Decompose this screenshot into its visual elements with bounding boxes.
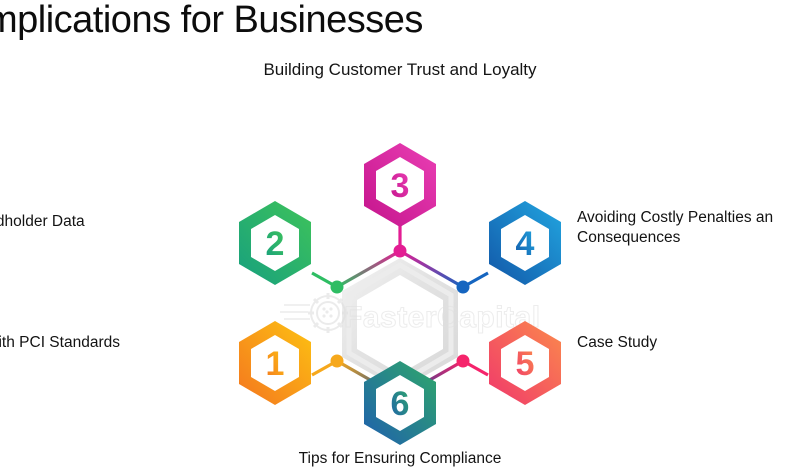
- node-label-6: Tips for Ensuring Compliance: [0, 449, 800, 469]
- hex-number-4: 4: [516, 225, 535, 263]
- hexagon-cluster-svg: FasterCapital 3 2 4 1: [220, 115, 580, 455]
- node-label-4-line1: Avoiding Costly Penalties an: [577, 208, 800, 228]
- hex-node-3[interactable]: 3: [364, 143, 436, 227]
- node-label-4: Avoiding Costly Penalties an Consequence…: [577, 208, 800, 248]
- hex-number-6: 6: [391, 385, 410, 423]
- hex-number-5: 5: [516, 345, 535, 383]
- hex-number-3: 3: [391, 167, 410, 205]
- hexagon-cluster-diagram: FasterCapital 3 2 4 1: [0, 95, 800, 468]
- hex-node-1[interactable]: 1: [239, 321, 311, 405]
- node-label-5: Case Study: [577, 333, 657, 353]
- node-label-4-line2: Consequences: [577, 228, 800, 248]
- hex-node-4[interactable]: 4: [489, 201, 561, 285]
- node-label-1: nce with PCI Standards: [0, 333, 120, 353]
- hex-number-1: 1: [266, 345, 285, 383]
- hex-number-2: 2: [266, 225, 285, 263]
- hex-node-2[interactable]: 2: [239, 201, 311, 285]
- watermark-text: FasterCapital: [344, 301, 541, 334]
- node-label-2: g Cardholder Data: [0, 212, 85, 232]
- slide-subtitle: Building Customer Trust and Loyalty: [0, 60, 800, 80]
- page-title: mplications for Businesses: [0, 0, 626, 42]
